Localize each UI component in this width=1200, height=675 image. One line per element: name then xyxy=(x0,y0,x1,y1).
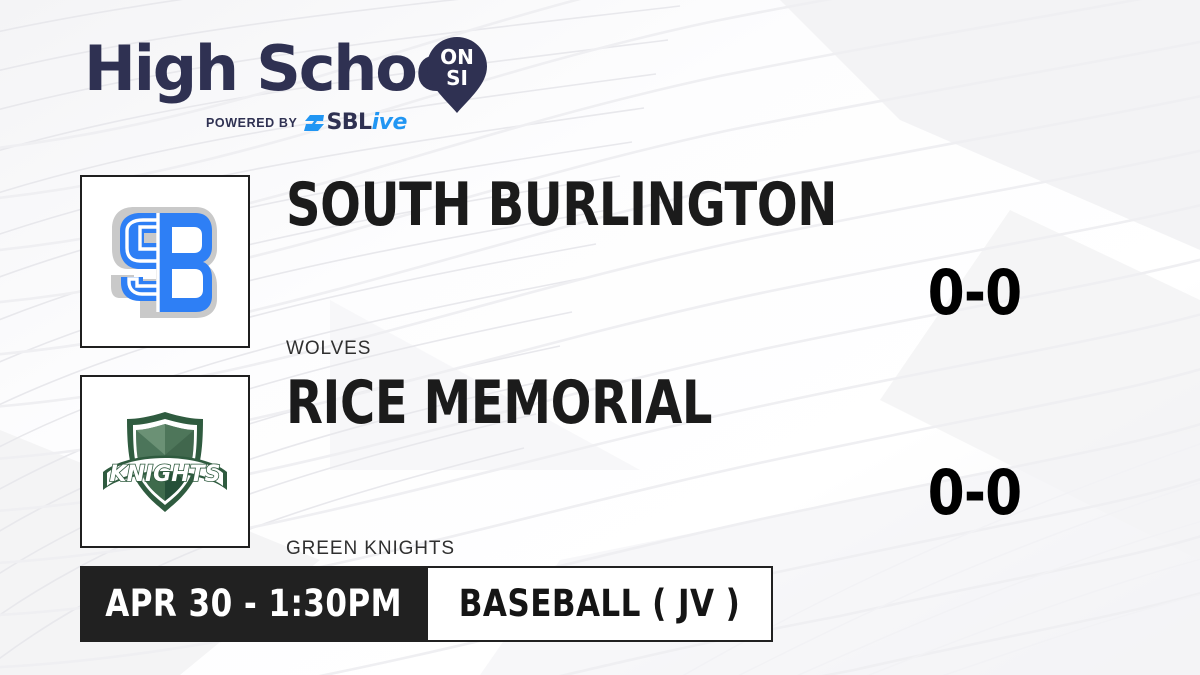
matchup-graphic: High School ON SI POWERED BY SBL ive xyxy=(0,0,1200,675)
powered-by-row: POWERED BY SBL ive xyxy=(206,112,407,134)
south-burlington-sb-monogram-icon xyxy=(110,203,220,321)
sblive-s-icon xyxy=(304,113,326,133)
brand-wordmark: High School xyxy=(84,34,475,104)
home-team-mascot: GREEN KNIGHTS xyxy=(286,538,455,560)
away-team-logo-box xyxy=(80,175,250,348)
home-team-record: 0-0 xyxy=(928,462,1022,524)
away-team-name: SOUTH BURLINGTON xyxy=(286,174,837,236)
away-team-record: 0-0 xyxy=(928,262,1022,324)
pin-line-2: SI xyxy=(446,66,468,90)
sblive-text-blue: ive xyxy=(372,112,407,134)
home-team-logo-box: KNIGHTS xyxy=(80,375,250,548)
sblive-logo: SBL ive xyxy=(304,112,406,134)
game-datetime-block: APR 30 - 1:30PM xyxy=(80,566,428,642)
away-team-mascot: WOLVES xyxy=(286,338,371,360)
rice-memorial-knights-shield-icon: KNIGHTS xyxy=(99,406,231,518)
brand-header: High School ON SI POWERED BY SBL ive xyxy=(84,34,514,139)
game-info-bar: APR 30 - 1:30PM BASEBALL ( JV ) xyxy=(80,566,773,642)
powered-by-label: POWERED BY xyxy=(206,116,297,130)
game-sport-block: BASEBALL ( JV ) xyxy=(428,566,773,642)
game-sport-text: BASEBALL ( JV ) xyxy=(459,585,741,623)
sblive-text-dark: SBL xyxy=(326,112,371,134)
game-datetime-text: APR 30 - 1:30PM xyxy=(106,585,403,623)
on-si-pin-icon: ON SI xyxy=(424,36,490,114)
knights-banner-text: KNIGHTS xyxy=(110,462,221,487)
home-team-name: RICE MEMORIAL xyxy=(286,372,712,434)
